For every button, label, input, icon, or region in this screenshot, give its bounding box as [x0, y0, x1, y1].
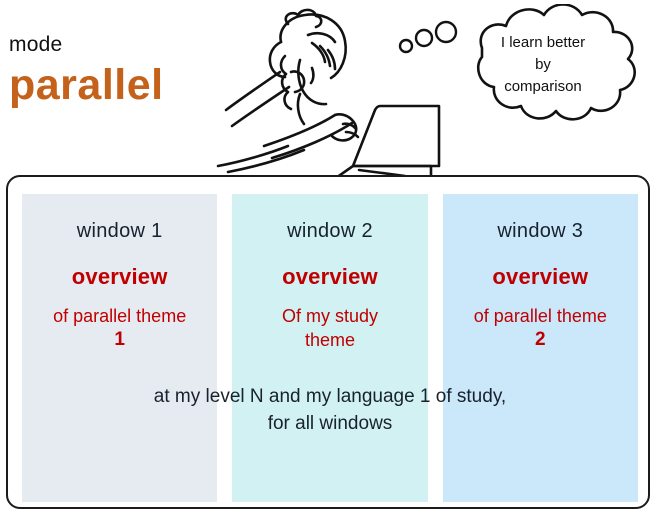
mode-value: parallel [9, 63, 164, 108]
shared-caption: at my level N and my language 1 of study… [22, 384, 638, 438]
thought-bubble-text: I learn better by comparison [468, 32, 618, 97]
header-area: mode parallel [0, 0, 656, 176]
window-panel-2[interactable] [232, 194, 427, 502]
mode-label: mode [9, 33, 62, 57]
window-panel-1[interactable] [22, 194, 217, 502]
window-panel-3[interactable] [443, 194, 638, 502]
panels-row [22, 194, 638, 502]
